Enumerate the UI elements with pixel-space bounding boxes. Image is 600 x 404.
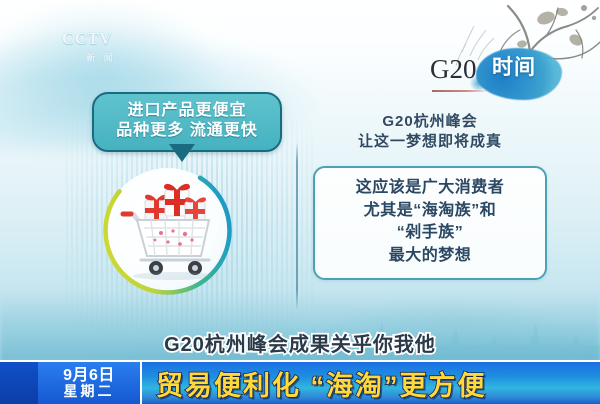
program-logo-label: 时间 [492, 57, 536, 78]
speech-bubble-tail [171, 144, 193, 159]
cctv-logo-subtitle: 新 闻 [62, 51, 140, 64]
banner-date-line-2: 星期二 [64, 384, 115, 399]
right-box-line-3: “剁手族” [321, 222, 539, 245]
broadcast-screenshot: CCTV 新 闻 G20 时间 进口产品更便宜 品种更多 流通更快 [0, 0, 600, 404]
right-headline-line-2: 让这一梦想即将成真 [312, 132, 548, 152]
g20-logo-text: G20 [430, 56, 477, 83]
banner-headline: 贸易便利化 “海淘”更方便 [156, 364, 487, 403]
right-headline: G20杭州峰会 让这一梦想即将成真 [312, 112, 548, 153]
right-text-box: 这应该是广大消费者 尤其是“海淘族”和 “剁手族” 最大的梦想 [313, 166, 547, 280]
lower-caption: G20杭州峰会成果关乎你我他 [0, 328, 600, 357]
speech-bubble: 进口产品更便宜 品种更多 流通更快 [92, 92, 282, 152]
banner-date-line-1: 9月6日 [63, 367, 115, 385]
speech-bubble-line-2: 品种更多 流通更快 [104, 121, 270, 141]
program-logo: G20 时间 [430, 52, 570, 98]
right-box-line-1: 这应该是广大消费者 [321, 177, 539, 200]
speech-bubble-line-1: 进口产品更便宜 [104, 101, 270, 121]
banner-left-block [0, 362, 38, 404]
cctv-logo-text: CCTV [62, 30, 140, 47]
right-box-line-2: 尤其是“海淘族”和 [321, 200, 539, 223]
banner-date: 9月6日 星期二 [38, 362, 142, 404]
logo-underline [432, 90, 490, 92]
right-box-line-4: 最大的梦想 [321, 245, 539, 268]
shopping-cart-icon [111, 176, 223, 280]
cctv-news-watermark: CCTV 新 闻 [62, 30, 140, 68]
cart-graphic [95, 158, 240, 303]
banner-title-bar: 贸易便利化 “海淘”更方便 [142, 362, 600, 404]
bottom-news-banner: 9月6日 星期二 贸易便利化 “海淘”更方便 [0, 360, 600, 404]
right-headline-line-1: G20杭州峰会 [312, 112, 548, 132]
vertical-divider [296, 142, 298, 310]
